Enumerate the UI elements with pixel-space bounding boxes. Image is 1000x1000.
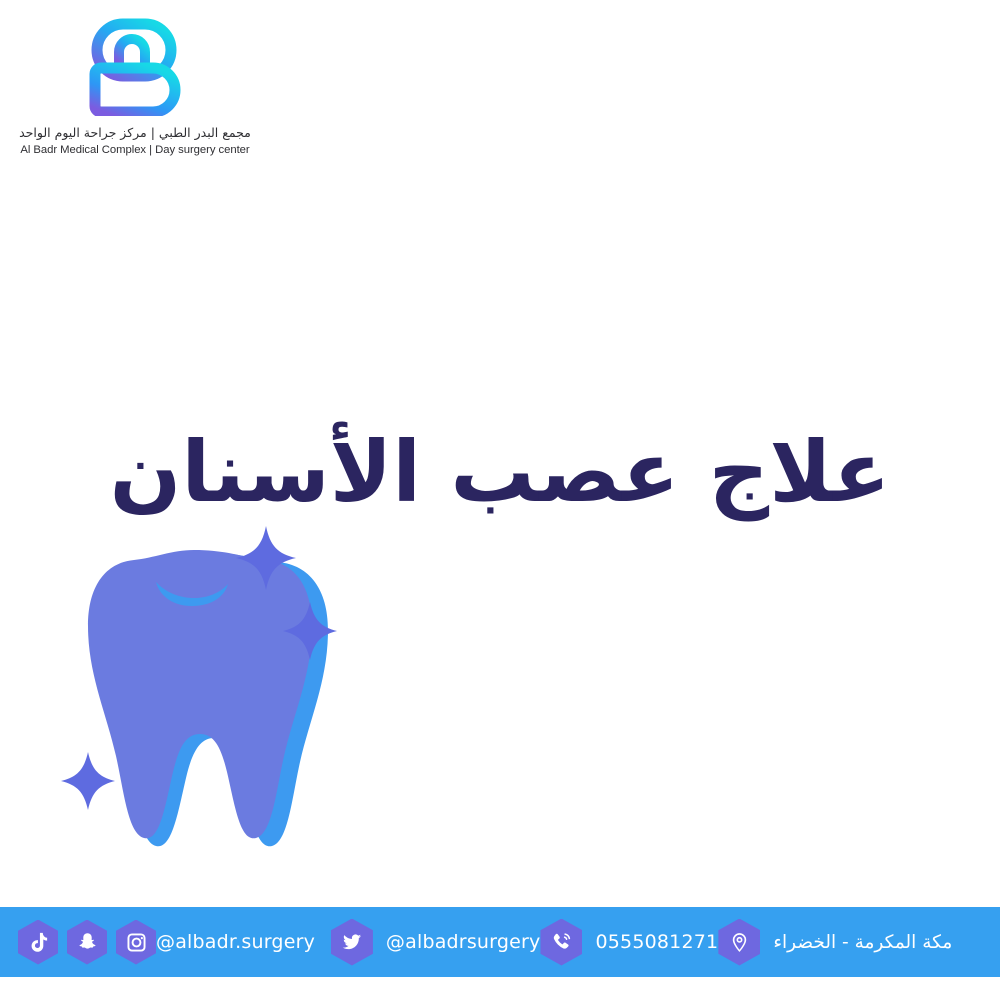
- location-text: مكة المكرمة - الخضراء: [773, 932, 952, 953]
- brand-block: مجمع البدر الطبي | مركز جراحة اليوم الوا…: [0, 18, 270, 157]
- phone-contact: 0555081271: [540, 919, 718, 966]
- page-title: علاج عصب الأسنان: [0, 428, 1000, 516]
- location-contact: مكة المكرمة - الخضراء: [718, 919, 952, 966]
- twitter-icon[interactable]: [331, 919, 373, 966]
- location-pin-icon[interactable]: [718, 919, 760, 966]
- tooth-illustration: [42, 512, 362, 884]
- instagram-handle: @albadr.surgery: [156, 931, 315, 953]
- phone-number: 0555081271: [595, 931, 718, 953]
- sparkle-left-icon: [61, 752, 115, 810]
- phone-icon[interactable]: [540, 919, 582, 966]
- social-icon-cluster: [18, 920, 156, 965]
- brand-name-arabic: مجمع البدر الطبي | مركز جراحة اليوم الوا…: [19, 125, 251, 141]
- albadr-b-monogram-logo-icon: [79, 18, 191, 116]
- instagram-icon[interactable]: [116, 920, 156, 965]
- snapchat-icon[interactable]: [67, 920, 107, 965]
- poster-canvas: مجمع البدر الطبي | مركز جراحة اليوم الوا…: [0, 0, 1000, 1000]
- brand-name-english: Al Badr Medical Complex | Day surgery ce…: [20, 144, 249, 158]
- twitter-contact: @albadrsurgery: [331, 919, 541, 966]
- tiktok-icon[interactable]: [18, 920, 58, 965]
- twitter-handle: @albadrsurgery: [386, 931, 541, 953]
- contact-footer-bar: @albadr.surgery @albadrsurgery 055508127…: [0, 907, 1000, 977]
